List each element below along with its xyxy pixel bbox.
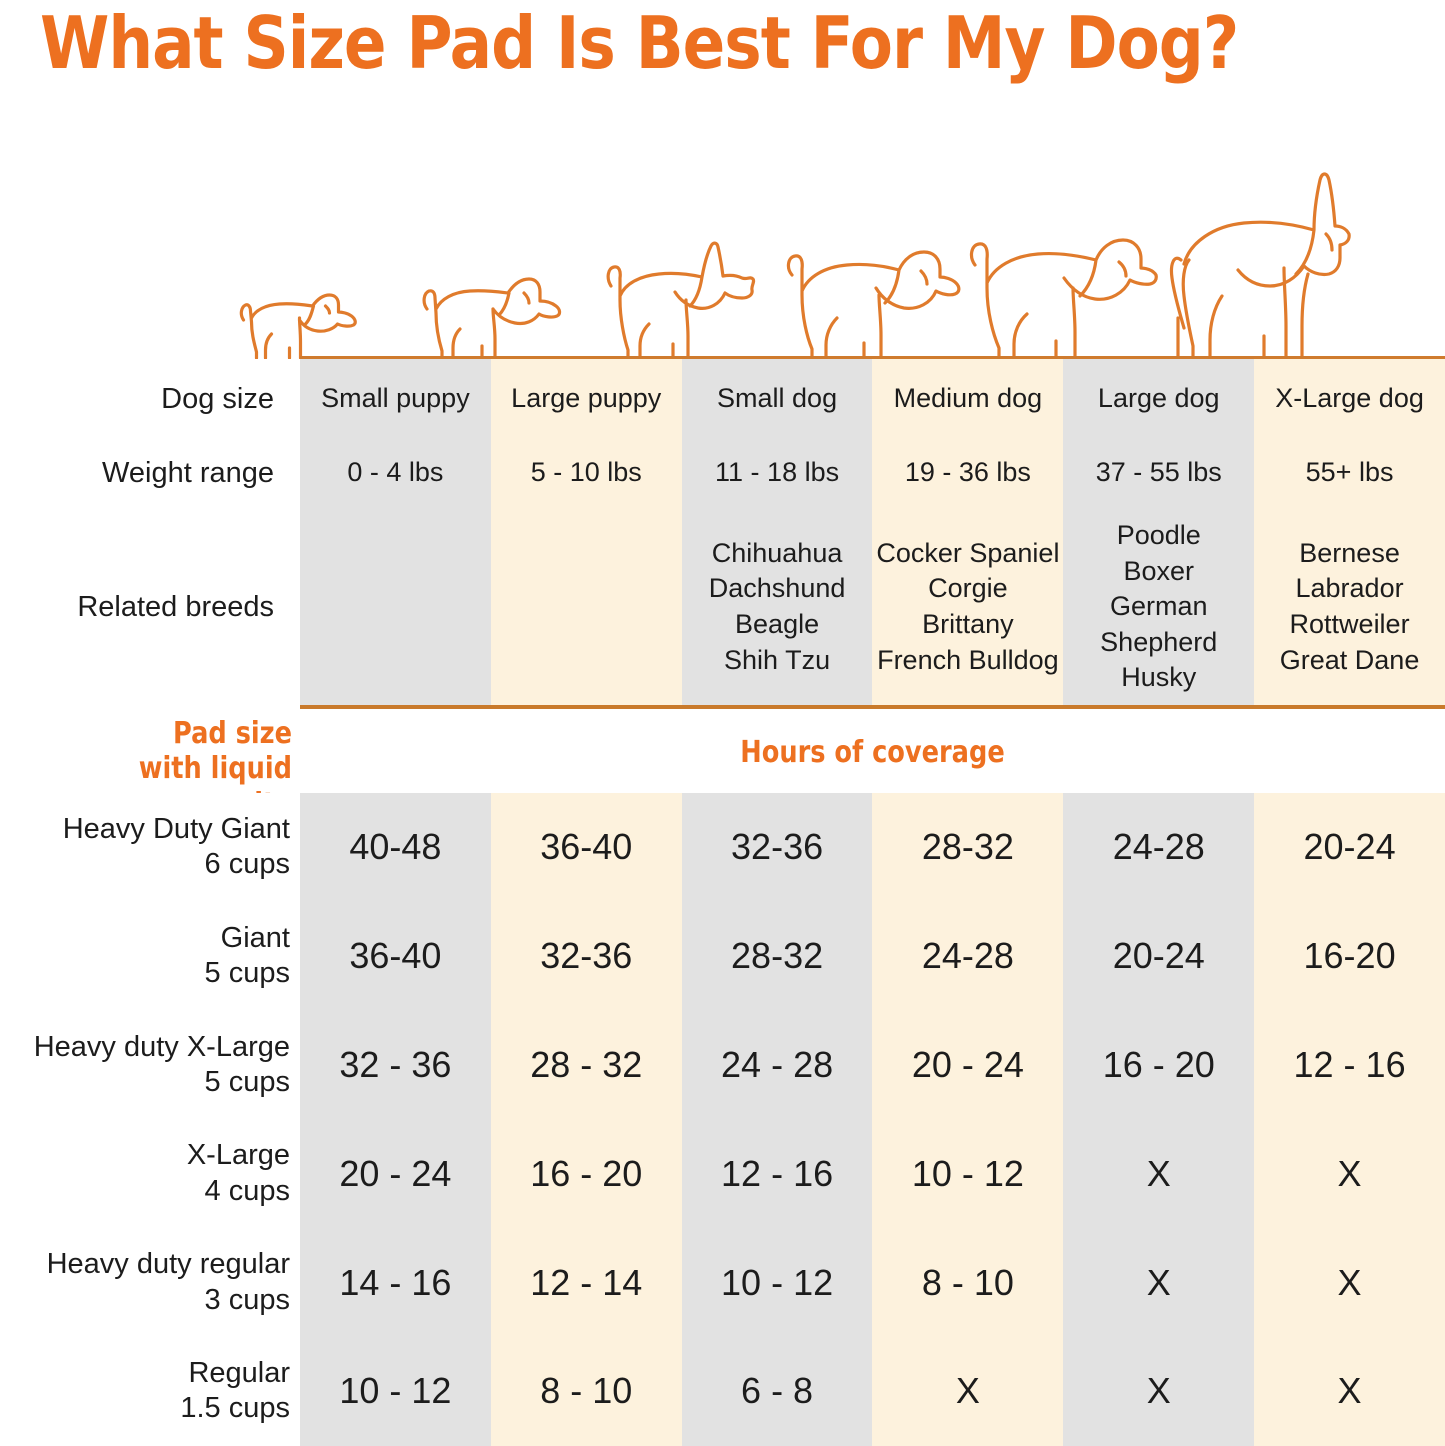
row-label-dog-size: Dog size: [0, 359, 300, 439]
row-label-heavy-duty-giant: Heavy Duty Giant 6 cups: [0, 793, 300, 902]
cell-weight-medium-dog: 19 - 36 lbs: [872, 439, 1063, 507]
cell-weight-xlarge-dog: 55+ lbs: [1254, 439, 1445, 507]
cell-breeds-xlarge-dog: Bernese Labrador Rottweiler Great Dane: [1254, 507, 1445, 707]
pad-capacity: 5 cups: [205, 1065, 290, 1100]
breed-list: Poodle Boxer German Shepherd Husky: [1100, 518, 1217, 696]
cell-hours-r3-c2: 12 - 16: [682, 1119, 873, 1228]
cell-hours-r4-c2: 10 - 12: [682, 1228, 873, 1337]
cell-dog-size-medium-dog: Medium dog: [872, 359, 1063, 439]
cell-hours-r5-c1: 8 - 10: [491, 1337, 682, 1446]
cell-hours-r4-c3: 8 - 10: [872, 1228, 1063, 1337]
table-row: Regular 1.5 cups 10 - 12 8 - 10 6 - 8 X …: [0, 1337, 1445, 1446]
row-label-xlarge: X-Large 4 cups: [0, 1119, 300, 1228]
cell-hours-r1-c5: 16-20: [1254, 902, 1445, 1011]
cell-hours-r2-c5: 12 - 16: [1254, 1011, 1445, 1120]
pad-capacity: 3 cups: [205, 1283, 290, 1318]
cell-dog-size-xlarge-dog: X-Large dog: [1254, 359, 1445, 439]
row-label-giant: Giant 5 cups: [0, 902, 300, 1011]
cell-hours-r0-c1: 36-40: [491, 793, 682, 902]
cell-dog-size-small-dog: Small dog: [682, 359, 873, 439]
breed-list: Chihuahua Dachshund Beagle Shih Tzu: [709, 536, 846, 679]
cell-hours-r2-c1: 28 - 32: [491, 1011, 682, 1120]
cell-breeds-large-puppy: [491, 507, 682, 707]
cell-hours-r1-c1: 32-36: [491, 902, 682, 1011]
cell-hours-r3-c5: X: [1254, 1119, 1445, 1228]
table-row: Heavy Duty Giant 6 cups 40-48 36-40 32-3…: [0, 793, 1445, 902]
cell-hours-r0-c0: 40-48: [300, 793, 491, 902]
section-divider-rule: [300, 705, 1445, 709]
infographic-page: What Size Pad Is Best For My Dog?: [0, 0, 1445, 1446]
row-label-heavy-duty-regular: Heavy duty regular 3 cups: [0, 1228, 300, 1337]
cell-weight-small-dog: 11 - 18 lbs: [682, 439, 873, 507]
cell-hours-r4-c4: X: [1063, 1228, 1254, 1337]
pad-name: Regular: [188, 1356, 290, 1391]
cell-hours-r4-c0: 14 - 16: [300, 1228, 491, 1337]
hours-of-coverage-table: Heavy Duty Giant 6 cups 40-48 36-40 32-3…: [0, 793, 1445, 1446]
cell-hours-r1-c2: 28-32: [682, 902, 873, 1011]
cell-hours-r1-c4: 20-24: [1063, 902, 1254, 1011]
cell-breeds-small-puppy: [300, 507, 491, 707]
cell-hours-r0-c3: 28-32: [872, 793, 1063, 902]
cell-dog-size-large-dog: Large dog: [1063, 359, 1254, 439]
dog-silhouette-band: [300, 150, 1445, 360]
pad-capacity: 5 cups: [205, 956, 290, 991]
cell-hours-r1-c3: 24-28: [872, 902, 1063, 1011]
row-label-weight-range: Weight range: [0, 439, 300, 507]
cell-hours-r5-c0: 10 - 12: [300, 1337, 491, 1446]
table-row: X-Large 4 cups 20 - 24 16 - 20 12 - 16 1…: [0, 1119, 1445, 1228]
breed-list: Bernese Labrador Rottweiler Great Dane: [1280, 536, 1420, 679]
cell-hours-r5-c4: X: [1063, 1337, 1254, 1446]
cell-hours-r3-c3: 10 - 12: [872, 1119, 1063, 1228]
pad-name: Heavy duty regular: [47, 1247, 290, 1282]
xlarge-dog-cell: [1254, 150, 1445, 360]
cell-dog-size-small-puppy: Small puppy: [300, 359, 491, 439]
dog-size-table: Dog size Small puppy Large puppy Small d…: [0, 359, 1445, 707]
pad-name: X-Large: [187, 1138, 290, 1173]
cell-hours-r3-c0: 20 - 24: [300, 1119, 491, 1228]
cell-weight-large-puppy: 5 - 10 lbs: [491, 439, 682, 507]
cell-hours-r4-c5: X: [1254, 1228, 1445, 1337]
cell-hours-r2-c3: 20 - 24: [872, 1011, 1063, 1120]
pad-capacity: 4 cups: [205, 1174, 290, 1209]
pad-capacity: 1.5 cups: [180, 1391, 290, 1426]
table-row-dog-size: Dog size Small puppy Large puppy Small d…: [0, 359, 1445, 439]
cell-hours-r2-c2: 24 - 28: [682, 1011, 873, 1120]
cell-breeds-small-dog: Chihuahua Dachshund Beagle Shih Tzu: [682, 507, 873, 707]
row-label-regular: Regular 1.5 cups: [0, 1337, 300, 1446]
cell-breeds-large-dog: Poodle Boxer German Shepherd Husky: [1063, 507, 1254, 707]
cell-hours-r5-c3: X: [872, 1337, 1063, 1446]
cell-hours-r1-c0: 36-40: [300, 902, 491, 1011]
cell-hours-r0-c2: 32-36: [682, 793, 873, 902]
table-row-weight-range: Weight range 0 - 4 lbs 5 - 10 lbs 11 - 1…: [0, 439, 1445, 507]
page-title: What Size Pad Is Best For My Dog?: [40, 4, 1398, 83]
table-row-related-breeds: Related breeds Chihuahua Dachshund Beagl…: [0, 507, 1445, 707]
table-row: Heavy duty X-Large 5 cups 32 - 36 28 - 3…: [0, 1011, 1445, 1120]
cell-weight-large-dog: 37 - 55 lbs: [1063, 439, 1254, 507]
pad-name: Heavy Duty Giant: [63, 812, 290, 847]
cell-dog-size-large-puppy: Large puppy: [491, 359, 682, 439]
table-row: Giant 5 cups 36-40 32-36 28-32 24-28 20-…: [0, 902, 1445, 1011]
cell-hours-r4-c1: 12 - 14: [491, 1228, 682, 1337]
cell-hours-r3-c1: 16 - 20: [491, 1119, 682, 1228]
row-label-related-breeds: Related breeds: [0, 507, 300, 707]
cell-breeds-medium-dog: Cocker Spaniel Corgie Brittany French Bu…: [872, 507, 1063, 707]
pad-name: Heavy duty X-Large: [34, 1030, 290, 1065]
table-row: Heavy duty regular 3 cups 14 - 16 12 - 1…: [0, 1228, 1445, 1337]
pad-name: Giant: [221, 921, 290, 956]
cell-hours-r0-c4: 24-28: [1063, 793, 1254, 902]
cell-hours-r5-c5: X: [1254, 1337, 1445, 1446]
cell-weight-small-puppy: 0 - 4 lbs: [300, 439, 491, 507]
hours-of-coverage-heading: Hours of coverage: [329, 735, 1417, 770]
row-label-heavy-duty-xlarge: Heavy duty X-Large 5 cups: [0, 1011, 300, 1120]
cell-hours-r3-c4: X: [1063, 1119, 1254, 1228]
breed-list: Cocker Spaniel Corgie Brittany French Bu…: [876, 536, 1059, 679]
cell-hours-r2-c0: 32 - 36: [300, 1011, 491, 1120]
cell-hours-r5-c2: 6 - 8: [682, 1337, 873, 1446]
pad-capacity: 6 cups: [205, 847, 290, 882]
cell-hours-r2-c4: 16 - 20: [1063, 1011, 1254, 1120]
cell-hours-r0-c5: 20-24: [1254, 793, 1445, 902]
